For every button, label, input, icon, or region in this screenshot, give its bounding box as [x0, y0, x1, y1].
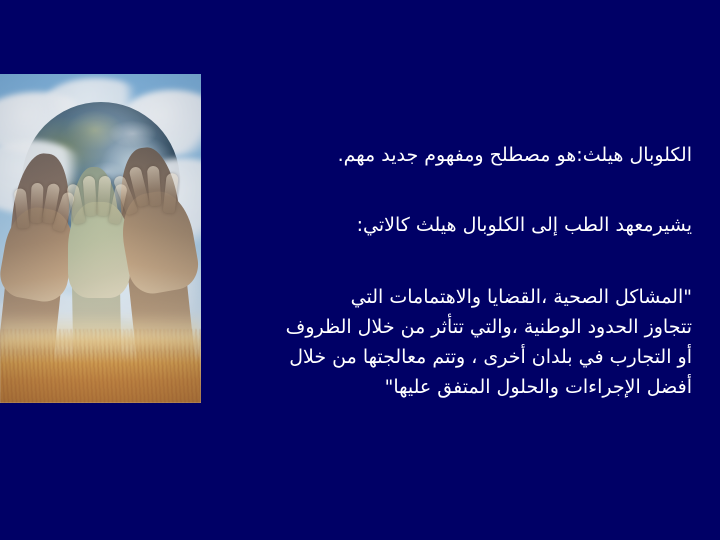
intro-line: يشيرمعهد الطب إلى الكلوبال هيلث كالاتي:	[230, 210, 692, 240]
quote-line-4: أفضل الإجراءات والحلول المتفق عليها"	[230, 372, 692, 402]
quote-line-2: تتجاوز الحدود الوطنية ،والتي تتأثر من خل…	[230, 312, 692, 342]
photo-vignette	[0, 74, 201, 403]
slide-text-body: الكلوبال هيلث:هو مصطلح ومفهوم جديد مهم. …	[230, 140, 692, 402]
quote-line-3: أو التجارب في بلدان أخرى ، وتتم معالجتها…	[230, 342, 692, 372]
heading-line: الكلوبال هيلث:هو مصطلح ومفهوم جديد مهم.	[230, 140, 692, 170]
spacer	[230, 170, 692, 210]
presentation-slide: الكلوبال هيلث:هو مصطلح ومفهوم جديد مهم. …	[0, 0, 720, 540]
spacer	[230, 240, 692, 282]
quote-line-1: "المشاكل الصحية ،القضايا والاهتمامات الت…	[230, 282, 692, 312]
globe-hands-photo	[0, 74, 201, 403]
